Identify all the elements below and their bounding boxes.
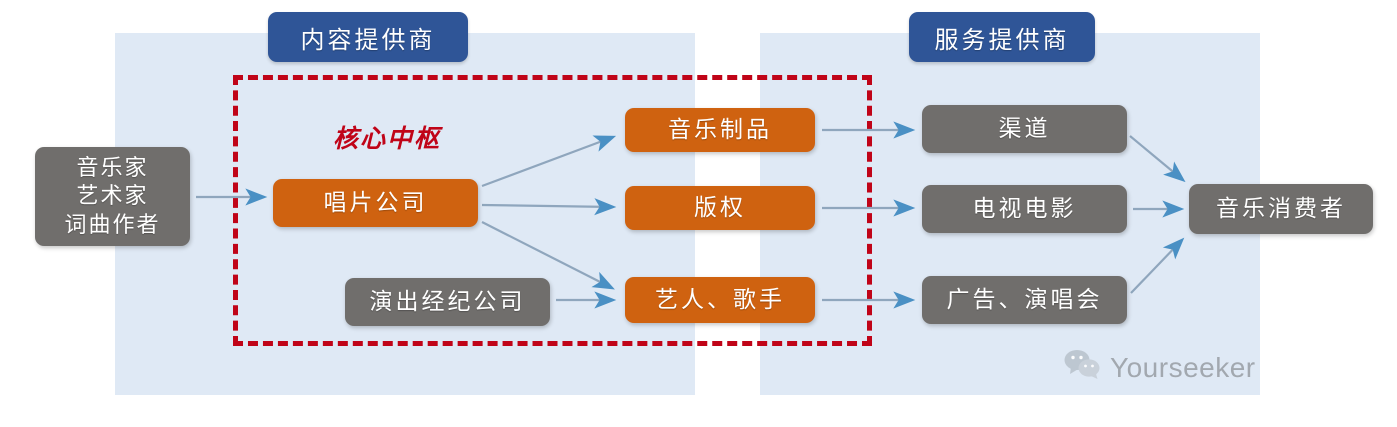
diagram-canvas: 核心中枢 bbox=[0, 0, 1397, 427]
node-artist-singer: 艺人、歌手 bbox=[625, 277, 815, 323]
node-ad-concert: 广告、演唱会 bbox=[922, 276, 1127, 324]
node-channel: 渠道 bbox=[922, 105, 1127, 153]
node-music-consumer: 音乐消费者 bbox=[1189, 184, 1373, 234]
node-copyright: 版权 bbox=[625, 186, 815, 230]
node-music-product: 音乐制品 bbox=[625, 108, 815, 152]
watermark-text: Yourseeker bbox=[1110, 352, 1256, 384]
node-label-company: 唱片公司 bbox=[273, 179, 478, 227]
node-tv-film: 电视电影 bbox=[922, 185, 1127, 233]
service-provider-header: 服务提供商 bbox=[909, 12, 1095, 62]
content-provider-header: 内容提供商 bbox=[268, 12, 468, 62]
node-creators-line-3: 词曲作者 bbox=[64, 211, 160, 239]
watermark: Yourseeker bbox=[1064, 349, 1256, 386]
wechat-icon bbox=[1064, 349, 1100, 386]
node-performance-agency: 演出经纪公司 bbox=[345, 278, 550, 326]
core-hub-label: 核心中枢 bbox=[333, 119, 441, 155]
node-creators-line-2: 艺术家 bbox=[76, 182, 148, 210]
node-creators: 音乐家 艺术家 词曲作者 bbox=[35, 147, 190, 246]
node-creators-line-1: 音乐家 bbox=[76, 154, 148, 182]
